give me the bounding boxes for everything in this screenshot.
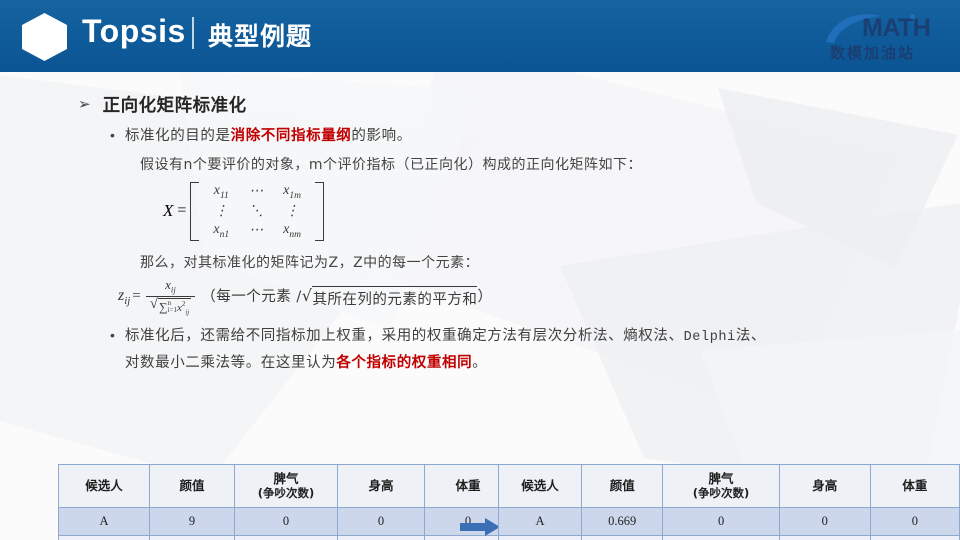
- title-separator: [192, 17, 194, 49]
- standardized-matrix-table: 候选人 颜值 脾气 (争吵次数) 身高 体重: [498, 464, 960, 540]
- table-header-row: 候选人 颜值 脾气 (争吵次数) 身高 体重: [499, 465, 960, 508]
- sqrt-note-icon: √其所在列的元素的平方和: [302, 286, 478, 309]
- table-row: B 0.595 0.394 0.976 0.447: [499, 536, 960, 540]
- page-title-cn: 典型例题: [208, 17, 312, 53]
- column-header-looks: 颜值: [582, 465, 663, 508]
- original-matrix-table: 候选人 颜值 脾气 (争吵次数) 身高 体重: [58, 464, 512, 540]
- bullet-1-before: 标准化的目的是: [125, 128, 231, 144]
- matrix-intro-text: 假设有n个要评价的对象，m个评价指标（已正向化）构成的正向化矩阵如下：: [140, 154, 642, 174]
- z-note: （每一个元素 /√其所在列的元素的平方和）: [201, 285, 492, 309]
- cell-weight: 0.447: [870, 536, 959, 540]
- bullet-marker-icon: •: [110, 328, 115, 342]
- matrix-cell: ⋯: [239, 182, 273, 202]
- column-header-looks: 颜值: [150, 465, 235, 508]
- z-formula: zij = xij √ ∑ni=1x2ij （每一个元素 /√其所在列的元素的平…: [118, 277, 492, 316]
- matrix-row: xn1 ⋯ xnm: [203, 221, 311, 241]
- sum-symbol: ∑: [159, 300, 168, 314]
- z-note-radicand: 其所在列的元素的平方和: [312, 286, 477, 309]
- slide-canvas: Topsis 典型例题 MATH 数模加油站 ➢ 正向化矩阵标准化 • 标准化的…: [0, 0, 960, 540]
- matrix-equals: =: [177, 202, 186, 220]
- z-fraction: xij √ ∑ni=1x2ij: [146, 277, 195, 316]
- bullet-2-line1-b: 法、: [736, 328, 766, 344]
- sum-lower: i=1: [168, 307, 177, 314]
- matrix-cell: x1m: [273, 182, 311, 202]
- cell-temper: 0.394: [663, 536, 779, 540]
- cell-looks: 8: [150, 536, 235, 540]
- table-row: A 0.669 0 0 0: [499, 508, 960, 536]
- bullet-2-line2-a: 对数最小二乘法等。在这里认为: [125, 355, 336, 371]
- cell-looks: 9: [150, 508, 235, 536]
- table-row: A 9 0 0 0: [59, 508, 512, 536]
- bullet-2-highlight: 各个指标的权重相同: [336, 355, 472, 371]
- cell-candidate: A: [499, 508, 582, 536]
- cell-candidate: A: [59, 508, 150, 536]
- cell-temper: 3: [235, 536, 338, 540]
- brand-logo: MATH 数模加油站: [822, 6, 948, 66]
- matrix-row: ⋮ ⋱ ⋮: [203, 202, 311, 221]
- matrix-row: x11 ⋯ x1m: [203, 182, 311, 202]
- cell-candidate: B: [499, 536, 582, 540]
- bullet-2-line1-a: 标准化后，还需给不同指标加上权重，采用的权重确定方法有层次分析法、熵权法、: [125, 328, 684, 344]
- z-intro-text: 那么，对其标准化的矩阵记为Z，Z中的每一个元素：: [140, 252, 479, 272]
- bullet-item-1: • 标准化的目的是消除不同指标量纲的影响。: [110, 124, 412, 145]
- bullet-1-text: 标准化的目的是消除不同指标量纲的影响。: [125, 124, 412, 145]
- matrix-cell: ⋮: [203, 202, 239, 221]
- cell-temper: 0: [235, 508, 338, 536]
- brand-subtitle: 数模加油站: [830, 42, 915, 63]
- table-row: B 8 3 0.9 0.5: [59, 536, 512, 540]
- cell-looks: 0.669: [582, 508, 663, 536]
- bullet-1-after: 的影响。: [351, 128, 411, 144]
- bullet-2-line2-b: 。: [472, 355, 487, 371]
- matrix-bracket-right: [315, 182, 324, 241]
- column-header-height: 身高: [779, 465, 870, 508]
- z-lhs: zij: [118, 287, 130, 307]
- heading-text: 正向化矩阵标准化: [103, 92, 247, 117]
- z-numerator: xij: [159, 277, 182, 296]
- z-equals: =: [132, 288, 140, 305]
- matrix-cell: xn1: [203, 221, 239, 241]
- page-title-en: Topsis: [82, 13, 186, 50]
- z-denominator: √ ∑ni=1x2ij: [146, 297, 195, 316]
- hexagon-icon: [22, 13, 67, 61]
- bullet-1-highlight: 消除不同指标量纲: [231, 128, 352, 144]
- matrix-body: x11 ⋯ x1m ⋮ ⋱ ⋮ xn1 ⋯ xnm: [203, 182, 311, 241]
- slide-content: ➢ 正向化矩阵标准化 • 标准化的目的是消除不同指标量纲的影响。 假设有n个要评…: [0, 72, 960, 540]
- bullet-2-line-2: 对数最小二乘法等。在这里认为各个指标的权重相同。: [125, 351, 766, 372]
- table-header-row: 候选人 颜值 脾气 (争吵次数) 身高 体重: [59, 465, 512, 508]
- cell-looks: 0.595: [582, 536, 663, 540]
- matrix-cell: x11: [203, 182, 239, 202]
- column-header-candidate: 候选人: [499, 465, 582, 508]
- column-header-candidate: 候选人: [59, 465, 150, 508]
- cell-candidate: B: [59, 536, 150, 540]
- matrix-cell: ⋯: [239, 221, 273, 241]
- bullet-marker-icon: •: [110, 128, 115, 142]
- brand-name: MATH: [862, 14, 930, 43]
- slide-header: Topsis 典型例题 MATH 数模加油站: [0, 0, 960, 72]
- column-header-temper: 脾气 (争吵次数): [663, 465, 779, 508]
- bullet-item-2: • 标准化后，还需给不同指标加上权重，采用的权重确定方法有层次分析法、熵权法、D…: [110, 324, 766, 372]
- sqrt-icon: √ ∑ni=1x2ij: [150, 298, 191, 316]
- z-note-open: （每一个元素 /: [201, 289, 302, 305]
- column-header-temper: 脾气 (争吵次数): [235, 465, 338, 508]
- column-header-height: 身高: [338, 465, 425, 508]
- cell-height: 0: [779, 508, 870, 536]
- z-note-close: ）: [477, 289, 492, 305]
- bullet-2-line-1: 标准化后，还需给不同指标加上权重，采用的权重确定方法有层次分析法、熵权法、Del…: [125, 324, 766, 345]
- column-header-weight: 体重: [870, 465, 959, 508]
- cell-height: 0: [338, 508, 425, 536]
- cell-weight: 0: [870, 508, 959, 536]
- matrix-bracket-left: [190, 182, 199, 241]
- matrix-cell: ⋱: [239, 202, 273, 221]
- matrix-label: X: [163, 201, 173, 221]
- cell-height: 0.976: [779, 536, 870, 540]
- matrix-cell: xnm: [273, 221, 311, 241]
- section-heading: ➢ 正向化矩阵标准化: [78, 92, 247, 117]
- brand-dot-icon: [910, 14, 915, 19]
- cell-height: 0.9: [338, 536, 425, 540]
- heading-marker-icon: ➢: [78, 97, 91, 112]
- cell-temper: 0: [663, 508, 779, 536]
- right-arrow-icon: [460, 518, 500, 536]
- matrix-cell: ⋮: [273, 202, 311, 221]
- matrix-formula: X = x11 ⋯ x1m ⋮ ⋱ ⋮ xn1 ⋯ xnm: [163, 182, 324, 241]
- bullet-2-mono-term: Delphi: [684, 330, 736, 345]
